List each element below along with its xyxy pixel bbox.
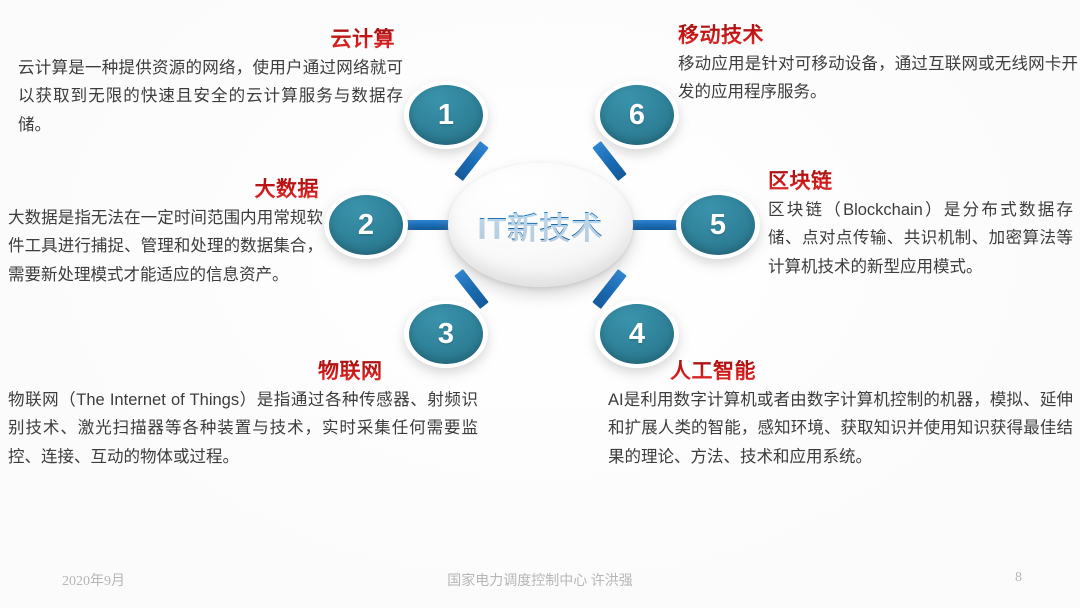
section-mobile-technology-title: 移动技术 (678, 24, 1078, 47)
section-mobile-technology: 移动技术 移动应用是针对可移动设备，通过互联网或无线网卡开发的应用程序服务。 (678, 24, 1078, 107)
section-big-data: 大数据 大数据是指无法在一定时间范围内用常规软件工具进行捕捉、管理和处理的数据集… (8, 178, 323, 289)
slide-canvas: 云计算 云计算是一种提供资源的网络，使用户通过网络就可以获取到无限的快速且安全的… (0, 0, 1080, 608)
node-circle-1-number: 1 (404, 81, 488, 149)
section-big-data-title: 大数据 (8, 178, 323, 201)
node-circle-6[interactable]: 6 (595, 81, 679, 149)
section-iot-body: 物联网（The Internet of Things）是指通过各种传感器、射频识… (8, 386, 478, 471)
node-circle-5[interactable]: 5 (676, 191, 760, 259)
slide-footer: 2020年9月 国家电力调度控制中心 许洪强 8 (0, 570, 1080, 592)
section-mobile-technology-body: 移动应用是针对可移动设备，通过互联网或无线网卡开发的应用程序服务。 (678, 50, 1078, 107)
section-cloud-computing-body: 云计算是一种提供资源的网络，使用户通过网络就可以获取到无限的快速且安全的云计算服… (18, 54, 403, 139)
footer-organization: 国家电力调度控制中心 许洪强 (0, 570, 1080, 590)
node-circle-3[interactable]: 3 (404, 300, 488, 368)
center-hub-label: IT新技术 (478, 203, 604, 248)
section-artificial-intelligence: 人工智能 AI是利用数字计算机或者由数字计算机控制的机器，模拟、延伸和扩展人类的… (608, 360, 1073, 471)
section-cloud-computing-title: 云计算 (18, 28, 403, 51)
node-circle-2[interactable]: 2 (324, 191, 408, 259)
center-hub: IT新技术 (448, 163, 633, 287)
node-circle-6-number: 6 (595, 81, 679, 149)
section-big-data-body: 大数据是指无法在一定时间范围内用常规软件工具进行捕捉、管理和处理的数据集合，需要… (8, 204, 323, 289)
node-circle-4[interactable]: 4 (595, 300, 679, 368)
node-circle-4-number: 4 (595, 300, 679, 368)
node-circle-2-number: 2 (324, 191, 408, 259)
section-iot: 物联网 物联网（The Internet of Things）是指通过各种传感器… (8, 360, 478, 471)
section-artificial-intelligence-body: AI是利用数字计算机或者由数字计算机控制的机器，模拟、延伸和扩展人类的智能，感知… (608, 386, 1073, 471)
section-blockchain-title: 区块链 (768, 170, 1073, 193)
section-blockchain: 区块链 区块链（Blockchain）是分布式数据存储、点对点传输、共识机制、加… (768, 170, 1073, 281)
connector-hub-to-node-5 (629, 220, 681, 230)
node-circle-1[interactable]: 1 (404, 81, 488, 149)
section-blockchain-body: 区块链（Blockchain）是分布式数据存储、点对点传输、共识机制、加密算法等… (768, 196, 1073, 281)
section-cloud-computing: 云计算 云计算是一种提供资源的网络，使用户通过网络就可以获取到无限的快速且安全的… (18, 28, 403, 139)
node-circle-3-number: 3 (404, 300, 488, 368)
footer-page-number: 8 (1015, 570, 1022, 586)
node-circle-5-number: 5 (676, 191, 760, 259)
